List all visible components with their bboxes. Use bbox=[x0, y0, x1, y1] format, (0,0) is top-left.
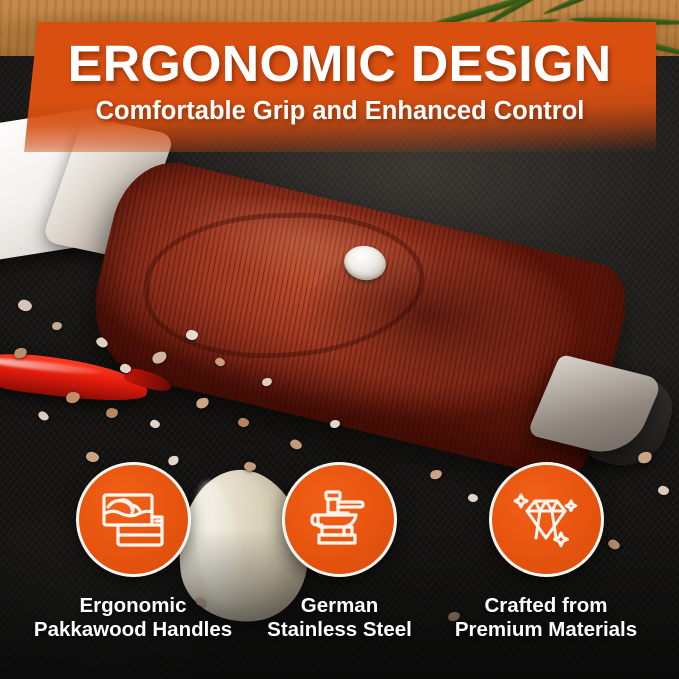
wood-planks-icon bbox=[100, 491, 166, 549]
header-banner bbox=[24, 22, 656, 152]
feature-badge-stainless-steel bbox=[282, 462, 397, 577]
feature-item-premium-materials: Crafted from Premium Materials bbox=[451, 462, 641, 667]
feature-item-pakkawood-handles: Ergonomic Pakkawood Handles bbox=[38, 462, 228, 667]
anvil-hammer-icon bbox=[308, 489, 372, 551]
feature-label-line2: Pakkawood Handles bbox=[34, 618, 232, 641]
feature-label-line1: Ergonomic bbox=[79, 594, 186, 617]
diamond-sparkle-icon bbox=[513, 489, 579, 551]
feature-label-line1: German bbox=[301, 594, 378, 617]
feature-label-stainless-steel: German Stainless Steel bbox=[267, 594, 412, 642]
product-banner-image: ERGONOMIC DESIGN Comfortable Grip and En… bbox=[0, 0, 679, 679]
feature-badge-pakkawood bbox=[76, 462, 191, 577]
feature-list: Ergonomic Pakkawood Handles bbox=[0, 462, 679, 667]
feature-label-premium-materials: Crafted from Premium Materials bbox=[455, 594, 637, 642]
feature-item-stainless-steel: German Stainless Steel bbox=[245, 462, 435, 667]
feature-label-line1: Crafted from bbox=[484, 594, 607, 617]
feature-label-pakkawood: Ergonomic Pakkawood Handles bbox=[34, 594, 232, 642]
feature-label-line2: Stainless Steel bbox=[267, 618, 412, 641]
feature-badge-premium-materials bbox=[489, 462, 604, 577]
feature-label-line2: Premium Materials bbox=[455, 618, 637, 641]
